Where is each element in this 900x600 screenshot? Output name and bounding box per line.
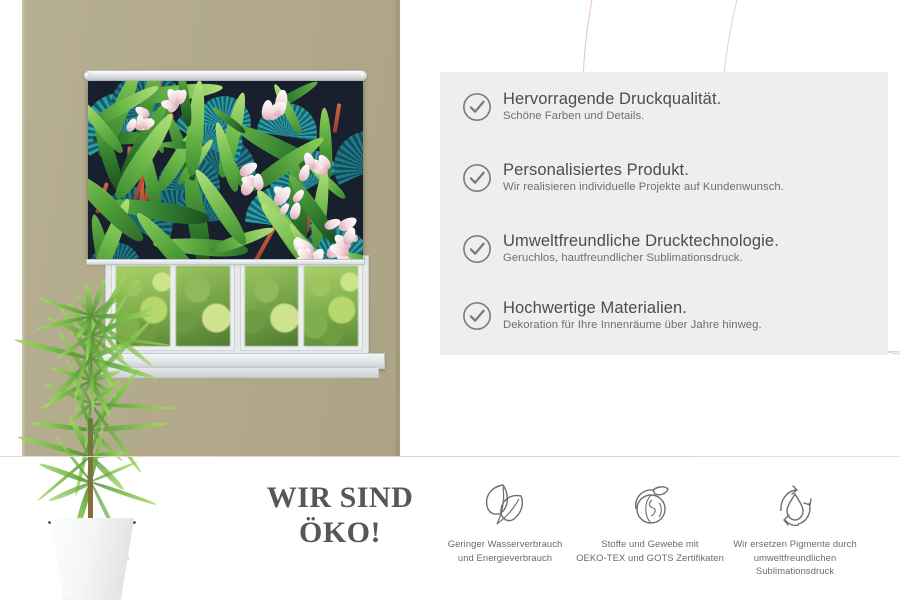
caption-line: Stoffe und Gewebe mit [570, 537, 730, 551]
feature-item: Umweltfreundliche Drucktechnologie. Geru… [462, 232, 779, 266]
check-circle-icon [462, 234, 492, 264]
eco-badge-caption: Wir ersetzen Pigmente durch umweltfreund… [715, 537, 875, 578]
blind-fabric-print [88, 81, 363, 261]
eco-badge-caption: Geringer Wasserverbrauch und Energieverb… [425, 537, 585, 564]
globe-with-leaf-icon [570, 474, 730, 530]
eco-headline: WIR SIND ÖKO! [230, 480, 450, 551]
feature-subtitle: Schöne Farben und Details. [503, 110, 721, 124]
pattern-stem [332, 103, 341, 133]
check-circle-icon [462, 92, 492, 122]
window-pane [303, 265, 359, 347]
two-leaves-icon [425, 474, 585, 530]
feature-item: Hervorragende Druckqualität. Schöne Farb… [462, 90, 721, 124]
eco-badge-certificates: Stoffe und Gewebe mit OEKO-TEX und GOTS … [570, 474, 730, 564]
eco-badge-pigments: Wir ersetzen Pigmente durch umweltfreund… [715, 474, 875, 578]
feature-title: Hervorragende Druckqualität. [503, 90, 721, 108]
feature-subtitle: Wir realisieren individuelle Projekte au… [503, 181, 784, 195]
promo-banner: Hervorragende Druckqualität. Schöne Farb… [0, 0, 900, 600]
caption-line: und Energieverbrauch [425, 551, 585, 565]
blind-roller-bar [84, 70, 367, 81]
check-circle-icon [462, 163, 492, 193]
eco-headline-line2: ÖKO! [230, 515, 450, 550]
eco-headline-line1: WIR SIND [230, 480, 450, 515]
plant-trunk [88, 418, 93, 522]
potted-palm-plant [0, 268, 207, 600]
eco-badge-caption: Stoffe und Gewebe mit OEKO-TEX und GOTS … [570, 537, 730, 564]
feature-item: Personalisiertes Produkt. Wir realisiere… [462, 161, 784, 195]
feature-subtitle: Dekoration für Ihre Innenräume über Jahr… [503, 319, 762, 333]
features-panel: Hervorragende Druckqualität. Schöne Farb… [440, 72, 888, 355]
caption-line: Sublimationsdruck [715, 564, 875, 578]
wall-shadow-edge [396, 0, 401, 456]
eco-badge-water-energy: Geringer Wasserverbrauch und Energieverb… [425, 474, 585, 564]
caption-line: Geringer Wasserverbrauch [425, 537, 585, 551]
feature-title: Umweltfreundliche Drucktechnologie. [503, 232, 779, 250]
feature-title: Hochwertige Materialien. [503, 299, 762, 317]
feature-subtitle: Geruchlos, hautfreundlicher Sublimations… [503, 252, 779, 266]
water-drop-recycle-icon [715, 474, 875, 530]
roller-blind-tropical-pattern [88, 70, 363, 265]
window-sash-right [240, 261, 364, 351]
palm-frond [91, 313, 155, 319]
caption-line: umweltfreundlichen [715, 551, 875, 565]
blind-end-cap-icon [84, 72, 91, 79]
section-divider [0, 456, 900, 457]
window-pane [244, 265, 300, 347]
check-circle-icon [462, 301, 492, 331]
blind-bottom-rail [86, 259, 365, 265]
feature-title: Personalisiertes Produkt. [503, 161, 784, 179]
caption-line: Wir ersetzen Pigmente durch [715, 537, 875, 551]
blind-end-cap-icon [360, 72, 367, 79]
caption-line: OEKO-TEX und GOTS Zertifikaten [570, 551, 730, 565]
palm-frond [31, 421, 91, 433]
feature-item: Hochwertige Materialien. Dekoration für … [462, 299, 762, 333]
